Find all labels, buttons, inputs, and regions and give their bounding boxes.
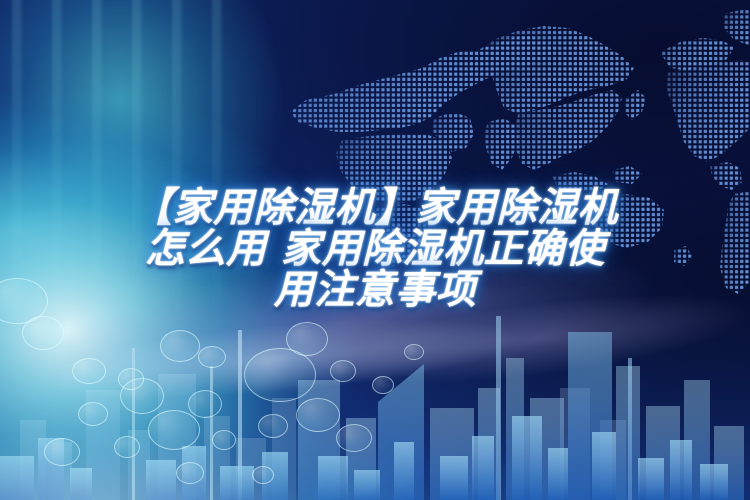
page-title: 【家用除湿机】家用除湿机 怎么用 家用除湿机正确使 用注意事项 [0,188,750,311]
bubble [44,438,80,466]
bubble [120,378,164,414]
bubble [72,358,106,384]
bubble [114,436,140,458]
bubble [372,376,394,394]
bubble [22,316,64,350]
bubble [198,346,226,368]
bubble [404,344,424,360]
bubble [336,424,372,452]
bubble [148,410,200,450]
bubble [78,402,108,426]
bubble [258,414,288,438]
banner-image: 【家用除湿机】家用除湿机 怎么用 家用除湿机正确使 用注意事项 [0,0,750,500]
bubble [244,348,316,402]
bubble [160,330,200,362]
headline-line-1: 【家用除湿机】家用除湿机 [36,188,714,229]
bubble [330,360,356,382]
headline-line-3: 用注意事项 [36,270,714,311]
bubble [176,462,204,484]
bubble [212,430,236,450]
bubble [296,398,340,432]
headline-line-2: 怎么用 家用除湿机正确使 [36,229,714,270]
bubble [188,390,222,418]
bubble [252,466,274,484]
bubble [286,322,328,356]
